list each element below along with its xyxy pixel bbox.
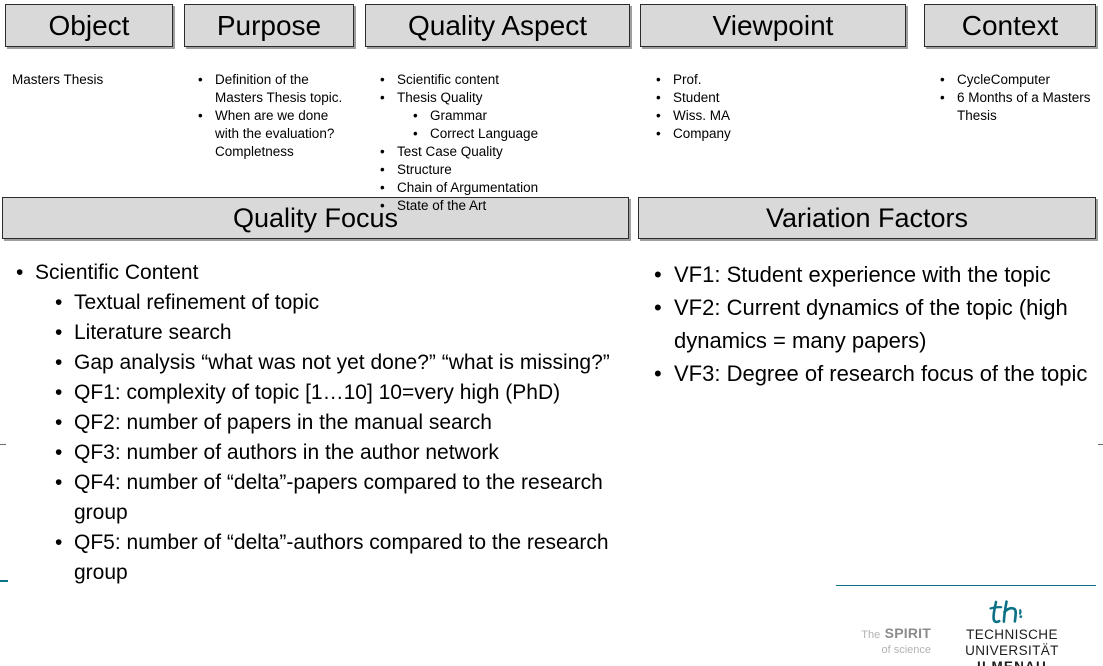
list-item: • Literature search	[39, 318, 630, 348]
bullet-icon: •	[55, 288, 62, 318]
column-context: • CycleComputer • 6 Months of a Masters …	[932, 71, 1097, 125]
left-edge-crop-mark	[0, 444, 6, 445]
list-item: • Company	[648, 125, 908, 143]
context-list: • CycleComputer • 6 Months of a Masters …	[932, 71, 1097, 125]
slide-canvas: Object Purpose Quality Aspect Viewpoint …	[0, 0, 1103, 666]
list-item: • Definition of the Masters Thesis topic…	[190, 71, 355, 107]
list-item: • Wiss. MA	[648, 107, 908, 125]
bullet-icon: •	[198, 71, 203, 89]
list-item-label: Gap analysis “what was not yet done?” “w…	[74, 351, 610, 374]
header-label-purpose: Purpose	[217, 12, 321, 40]
list-item-label: VF1: Student experience with the topic	[674, 262, 1051, 287]
list-item-label: Literature search	[74, 321, 232, 344]
column-object: Masters Thesis	[12, 71, 172, 89]
bullet-icon: •	[656, 107, 661, 125]
bullet-icon: •	[16, 258, 23, 288]
bullet-icon: •	[55, 378, 62, 408]
list-item-label: Correct Language	[430, 126, 538, 141]
bullet-icon: •	[380, 89, 385, 107]
list-item-label: Scientific Content	[35, 261, 198, 284]
list-item: • VF1: Student experience with the topic	[648, 258, 1088, 291]
list-item-label: Chain of Argumentation	[397, 180, 538, 195]
list-item: • Correct Language	[397, 125, 634, 143]
bullet-icon: •	[940, 71, 945, 89]
list-item: • Textual refinement of topic	[39, 288, 630, 318]
header-box-context: Context	[924, 4, 1096, 47]
bullet-icon: •	[380, 143, 385, 161]
right-edge-crop-mark	[1098, 444, 1103, 445]
quality-aspect-overflow-item: • State of the Art	[372, 197, 630, 215]
list-item-label: When are we done with the evaluation? Co…	[215, 108, 334, 159]
list-item-label: VF3: Degree of research focus of the top…	[674, 361, 1087, 386]
header-box-variation-factors: Variation Factors	[638, 197, 1096, 239]
th-monogram-icon	[928, 600, 1096, 626]
header-label-viewpoint: Viewpoint	[713, 12, 834, 40]
left-edge-accent-tick	[0, 580, 8, 582]
variation-factors-list: • VF1: Student experience with the topic…	[648, 258, 1088, 390]
viewpoint-list: • Prof. • Student • Wiss. MA • Company	[648, 71, 908, 143]
bullet-icon: •	[940, 89, 945, 107]
university-name-line1: TECHNISCHE UNIVERSITÄT	[928, 627, 1096, 659]
list-item-label: QF4: number of “delta”-papers compared t…	[74, 471, 603, 524]
list-item-label: QF5: number of “delta”-authors compared …	[74, 531, 609, 584]
column-quality-aspect: • Scientific content • Thesis Quality • …	[372, 71, 634, 197]
list-item: • State of the Art	[372, 197, 630, 215]
spirit-the-label: The	[861, 629, 880, 641]
bullet-icon: •	[654, 357, 662, 390]
object-value: Masters Thesis	[12, 71, 172, 89]
bullet-icon: •	[55, 438, 62, 468]
list-item-label: Definition of the Masters Thesis topic.	[215, 72, 342, 105]
bullet-icon: •	[55, 528, 62, 558]
bullet-icon: •	[656, 71, 661, 89]
list-item-label: QF3: number of authors in the author net…	[74, 441, 499, 464]
quality-focus-list: • Scientific Content	[2, 258, 630, 288]
list-item: • CycleComputer	[932, 71, 1097, 89]
list-item: • QF1: complexity of topic [1…10] 10=ver…	[39, 378, 630, 408]
list-item: • QF3: number of authors in the author n…	[39, 438, 630, 468]
list-item: • QF4: number of “delta”-papers compared…	[39, 468, 630, 528]
bullet-icon: •	[654, 258, 662, 291]
list-item: • VF3: Degree of research focus of the t…	[648, 357, 1088, 390]
column-purpose: • Definition of the Masters Thesis topic…	[190, 71, 355, 161]
bullet-icon: •	[55, 348, 62, 378]
list-item-label: State of the Art	[397, 198, 486, 213]
list-item: • When are we done with the evaluation? …	[190, 107, 355, 161]
list-item-label: CycleComputer	[957, 72, 1050, 87]
quality-focus-body: • Scientific Content • Textual refinemen…	[2, 258, 630, 588]
list-item: • QF2: number of papers in the manual se…	[39, 408, 630, 438]
bullet-icon: •	[654, 291, 662, 324]
list-item: • Scientific content	[372, 71, 634, 89]
column-viewpoint: • Prof. • Student • Wiss. MA • Company	[648, 71, 908, 143]
bullet-icon: •	[380, 161, 385, 179]
header-label-context: Context	[962, 12, 1059, 40]
quality-aspect-list: • Scientific content • Thesis Quality • …	[372, 71, 634, 197]
list-item: • VF2: Current dynamics of the topic (hi…	[648, 291, 1088, 357]
variation-factors-body: • VF1: Student experience with the topic…	[648, 258, 1088, 390]
bullet-icon: •	[380, 71, 385, 89]
list-item-label: VF2: Current dynamics of the topic (high…	[674, 295, 1068, 353]
list-item: • QF5: number of “delta”-authors compare…	[39, 528, 630, 588]
bullet-icon: •	[55, 318, 62, 348]
header-box-purpose: Purpose	[184, 4, 354, 47]
header-label-quality-aspect: Quality Aspect	[408, 12, 587, 40]
list-item-label: Textual refinement of topic	[74, 291, 319, 314]
bullet-icon: •	[380, 197, 385, 215]
spirit-of-science-logo: The SPIRIT of science	[841, 626, 931, 657]
tu-ilmenau-logo: TECHNISCHE UNIVERSITÄT ILMENAU	[928, 600, 1096, 666]
purpose-list: • Definition of the Masters Thesis topic…	[190, 71, 355, 161]
bullet-icon: •	[380, 179, 385, 197]
list-item: • Grammar	[397, 107, 634, 125]
list-item: • Scientific Content	[2, 258, 630, 288]
list-item-label: Structure	[397, 162, 452, 177]
list-item: • Gap analysis “what was not yet done?” …	[39, 348, 630, 378]
list-item-label: Company	[673, 126, 731, 141]
bullet-icon: •	[413, 125, 418, 143]
list-item-label: Grammar	[430, 108, 487, 123]
header-box-viewpoint: Viewpoint	[640, 4, 906, 47]
list-item: • Structure	[372, 161, 634, 179]
header-label-variation-factors: Variation Factors	[766, 205, 968, 232]
quality-focus-sublist: • Textual refinement of topic • Literatu…	[39, 288, 630, 588]
bullet-icon: •	[55, 408, 62, 438]
list-item: • Chain of Argumentation	[372, 179, 634, 197]
spirit-word-label: SPIRIT	[885, 625, 931, 641]
list-item-label: Prof.	[673, 72, 702, 87]
list-item: • Student	[648, 89, 908, 107]
bullet-icon: •	[656, 125, 661, 143]
list-item-label: Scientific content	[397, 72, 499, 87]
header-label-object: Object	[49, 12, 130, 40]
bullet-icon: •	[55, 468, 62, 498]
university-name-line2: ILMENAU	[928, 659, 1096, 666]
list-item: • 6 Months of a Masters Thesis	[932, 89, 1097, 125]
list-item-label: QF2: number of papers in the manual sear…	[74, 411, 492, 434]
list-item: • Test Case Quality	[372, 143, 634, 161]
list-item: • Prof.	[648, 71, 908, 89]
list-item-label: Thesis Quality	[397, 90, 483, 105]
list-item-label: Wiss. MA	[673, 108, 730, 123]
list-item-label: Test Case Quality	[397, 144, 503, 159]
list-item-label: Student	[673, 90, 720, 105]
header-box-quality-aspect: Quality Aspect	[365, 4, 630, 47]
footer-divider-line	[836, 585, 1096, 586]
list-item-label: 6 Months of a Masters Thesis	[957, 90, 1091, 123]
quality-aspect-overflow-list: • State of the Art	[372, 197, 630, 215]
quality-aspect-sublist: • Grammar • Correct Language	[397, 107, 634, 143]
list-item-label: QF1: complexity of topic [1…10] 10=very …	[74, 381, 560, 404]
spirit-of-science-label: of science	[841, 643, 931, 657]
bullet-icon: •	[413, 107, 418, 125]
header-box-object: Object	[5, 4, 173, 47]
bullet-icon: •	[198, 107, 203, 125]
list-item: • Thesis Quality • Grammar • Correct Lan…	[372, 89, 634, 143]
bullet-icon: •	[656, 89, 661, 107]
